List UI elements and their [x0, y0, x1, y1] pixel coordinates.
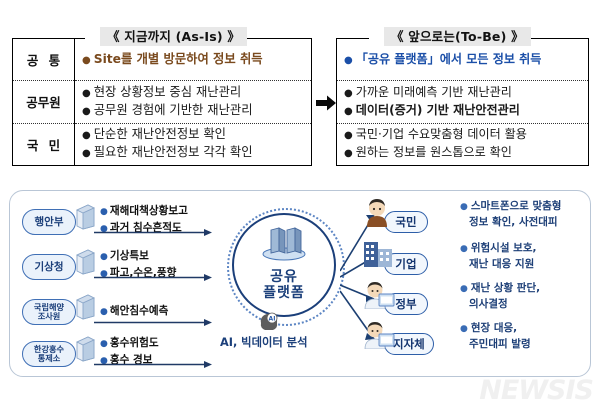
newsis-watermark: NEWSIS: [479, 375, 593, 406]
bullet-dot-icon: ●: [82, 127, 91, 144]
provider-item: ● 재해대책상황보고: [100, 203, 230, 220]
server-icon: [74, 249, 95, 275]
agency-chip-khoa: 국립해양 조사원: [22, 299, 76, 325]
shared-platform-hub: 공유 플랫폼: [232, 213, 336, 317]
consumer-row: 기업 ● 위험시설 보호, 재난 대응 지원: [362, 239, 587, 281]
provider-item-text: 기상특보: [110, 248, 149, 264]
citizen-icon: [362, 197, 396, 227]
tobe-item-text: 원하는 정보를 원스톱으로 확인: [356, 144, 512, 161]
consumer-benefit-text: 재난 상황 판단,: [471, 281, 540, 296]
consumer-label: 지자체: [393, 336, 425, 352]
consumer-benefit-line: 주민대피 발령: [460, 337, 590, 352]
consumer-benefit-text: 정보 확인, 사전대피: [469, 215, 558, 230]
asis-title: 《 지금까지 (As-Is) 》: [100, 27, 247, 46]
consumer-label: 국민: [395, 214, 416, 230]
consumer-benefit-text: 의사결정: [469, 297, 508, 312]
asis-item: ● 필요한 재난안전정보 각각 확인: [82, 144, 306, 162]
consumer-benefits: ● 스마트폰으로 맞춤형 정보 확인, 사전대피: [460, 199, 590, 229]
consumer-label: 정부: [395, 296, 416, 312]
agency-label: 통제소: [38, 354, 61, 364]
asis-label-common: 공 통: [13, 39, 74, 80]
tobe-panel: 《 앞으로는(To-Be) 》 ● 「공유 플랫폼」에서 모든 정보 취득 ● …: [336, 38, 589, 166]
provider-item: ● 홍수위험도: [100, 335, 230, 352]
bullet-dot-icon: ●: [344, 145, 353, 162]
tobe-item: ● 원하는 정보를 원스톱으로 확인: [344, 144, 583, 162]
tobe-item-text: 데이터(증거) 기반 재난안전관리: [356, 102, 520, 119]
consumer-benefit-line: ● 재난 상황 판단,: [460, 281, 590, 297]
asis-item: ● 공무원 경험에 기반한 재난관리: [82, 102, 306, 120]
bullet-dot-icon: ●: [82, 85, 91, 102]
tobe-item-text: 국민·기업 수요맞춤형 데이터 활용: [356, 126, 527, 143]
flow-arrow-icon: [94, 312, 212, 321]
asis-item-text: Site를 개별 방문하여 정보 취득: [94, 51, 263, 68]
asis-item-text: 현장 상황정보 중심 재난관리: [94, 84, 241, 101]
server-icon: [74, 336, 95, 362]
asis-content-column: ● Site를 개별 방문하여 정보 취득 ● 현장 상황정보 중심 재난관리 …: [75, 39, 311, 165]
flow-arrow-icon: [94, 354, 212, 363]
consumer-benefits: ● 현장 대응, 주민대피 발령: [460, 321, 590, 351]
consumer-row: 지자체 ● 현장 대응, 주민대피 발령: [362, 319, 587, 361]
platform-icon: [258, 227, 310, 261]
consumer-benefit-line: ● 스마트폰으로 맞춤형: [460, 199, 590, 215]
tobe-frame: ● 「공유 플랫폼」에서 모든 정보 취득 ● 가까운 미래예측 기반 재난관리…: [336, 38, 589, 166]
svg-text:AI: AI: [269, 316, 276, 323]
bullet-dot-icon: ●: [460, 242, 468, 257]
agency-label: 기상청: [35, 262, 64, 273]
flow-arrow-icon: [94, 222, 212, 231]
asis-item: ● 현장 상황정보 중심 재난관리: [82, 84, 306, 102]
bullet-dot-icon: ●: [460, 200, 468, 215]
bullet-dot-icon: ●: [100, 336, 108, 352]
consumer-benefit-line: 의사결정: [460, 297, 590, 312]
consumer-benefit-line: 재난 대응 지원: [460, 257, 590, 272]
agency-chip-mois: 행안부: [22, 209, 76, 235]
asis-group-officials: ● 현장 상황정보 중심 재난관리 ● 공무원 경험에 기반한 재난관리: [75, 80, 311, 122]
bullet-dot-icon: ●: [82, 145, 91, 162]
tobe-item: ● 국민·기업 수요맞춤형 데이터 활용: [344, 126, 583, 144]
comparison-section: 《 지금까지 (As-Is) 》 공 통 공무원 국 민 ● Site를 개별 …: [0, 0, 601, 188]
local-gov-icon: [362, 319, 396, 349]
tobe-group-citizens: ● 국민·기업 수요맞춤형 데이터 활용 ● 원하는 정보를 원스톱으로 확인: [337, 123, 588, 165]
agency-label: 행안부: [35, 217, 64, 228]
hub-line-2: 플랫폼: [263, 285, 305, 301]
ai-brain-icon: AI: [256, 309, 282, 335]
provider-row: 국립해양 조사원 ● 해안침수예측: [22, 293, 227, 333]
asis-label-column: 공 통 공무원 국 민: [13, 39, 75, 165]
consumer-benefit-text: 위험시설 보호,: [471, 241, 537, 256]
tobe-group-officials: ● 가까운 미래예측 기반 재난관리 ● 데이터(증거) 기반 재난안전관리: [337, 80, 588, 122]
consumer-benefit-text: 스마트폰으로 맞춤형: [471, 199, 562, 214]
asis-item-text: 필요한 재난안전정보 각각 확인: [94, 144, 253, 161]
asis-panel: 《 지금까지 (As-Is) 》 공 통 공무원 국 민 ● Site를 개별 …: [12, 38, 312, 166]
agency-chip-hrfcc: 한강홍수 통제소: [22, 341, 76, 367]
asis-item: ● 단순한 재난안전정보 확인: [82, 126, 306, 144]
consumer-benefits: ● 위험시설 보호, 재난 대응 지원: [460, 241, 590, 271]
provider-row: 기상청 ● 기상특보 ● 파고,수온,풍향: [22, 248, 227, 288]
consumer-benefit-text: 주민대피 발령: [469, 337, 531, 352]
asis-item: ● Site를 개별 방문하여 정보 취득: [82, 51, 306, 69]
consumer-row: 국민 ● 스마트폰으로 맞춤형 정보 확인, 사전대피: [362, 197, 587, 239]
bullet-dot-icon: ●: [344, 85, 353, 102]
agency-chip-kma: 기상청: [22, 254, 76, 280]
right-arrow-icon: [315, 92, 337, 114]
building-icon: [362, 239, 396, 269]
asis-item-text: 단순한 재난안전정보 확인: [94, 126, 226, 143]
server-icon: [74, 204, 95, 230]
tobe-item: ● 「공유 플랫폼」에서 모든 정보 취득: [344, 51, 583, 69]
ai-analysis-caption: AI, 빅데이터 분석: [220, 334, 307, 350]
provider-row: 한강홍수 통제소 ● 홍수위험도 ● 홍수 경보: [22, 335, 227, 375]
platform-diagram: 행안부 ● 재해대책상황보고 ● 과거 침수흔적도: [9, 190, 591, 377]
tobe-item-text: 가까운 미래예측 기반 재난관리: [356, 84, 512, 101]
tobe-item: ● 데이터(증거) 기반 재난안전관리: [344, 102, 583, 120]
hub-line-1: 공유: [270, 269, 298, 285]
consumer-benefit-line: ● 위험시설 보호,: [460, 241, 590, 257]
consumer-benefit-text: 재난 대응 지원: [469, 257, 534, 272]
consumer-row: 정부 ● 재난 상황 판단, 의사결정: [362, 279, 587, 321]
provider-row: 행안부 ● 재해대책상황보고 ● 과거 침수흔적도: [22, 203, 227, 243]
bullet-dot-icon: ●: [100, 204, 108, 220]
agency-label: 조사원: [38, 312, 61, 322]
flow-arrow-icon: [94, 267, 212, 276]
asis-item-text: 공무원 경험에 기반한 재난관리: [94, 102, 253, 119]
bullet-dot-icon: ●: [344, 52, 353, 69]
bullet-dot-icon: ●: [82, 103, 91, 120]
asis-label-citizens: 국 민: [13, 123, 74, 165]
consumer-label: 기업: [395, 256, 416, 272]
bullet-dot-icon: ●: [82, 52, 91, 69]
asis-label-officials: 공무원: [13, 80, 74, 122]
consumer-benefits: ● 재난 상황 판단, 의사결정: [460, 281, 590, 311]
provider-item-text: 재해대책상황보고: [110, 203, 188, 219]
server-icon: [74, 294, 95, 320]
bullet-dot-icon: ●: [344, 103, 353, 120]
provider-item-text: 홍수위험도: [110, 335, 159, 351]
bullet-dot-icon: ●: [344, 127, 353, 144]
bullet-dot-icon: ●: [100, 249, 108, 265]
tobe-item-text: 「공유 플랫폼」에서 모든 정보 취득: [356, 51, 542, 68]
tobe-item: ● 가까운 미래예측 기반 재난관리: [344, 84, 583, 102]
official-icon: [362, 279, 396, 309]
consumer-benefit-text: 현장 대응,: [471, 321, 517, 336]
asis-group-citizens: ● 단순한 재난안전정보 확인 ● 필요한 재난안전정보 각각 확인: [75, 123, 311, 165]
provider-item: ● 기상특보: [100, 248, 230, 265]
consumer-benefit-line: 정보 확인, 사전대피: [460, 215, 590, 230]
bullet-dot-icon: ●: [460, 322, 468, 337]
consumer-benefit-line: ● 현장 대응,: [460, 321, 590, 337]
asis-frame: 공 통 공무원 국 민 ● Site를 개별 방문하여 정보 취득 ●: [12, 38, 312, 166]
bullet-dot-icon: ●: [460, 282, 468, 297]
tobe-title: 《 앞으로는(To-Be) 》: [384, 27, 531, 46]
